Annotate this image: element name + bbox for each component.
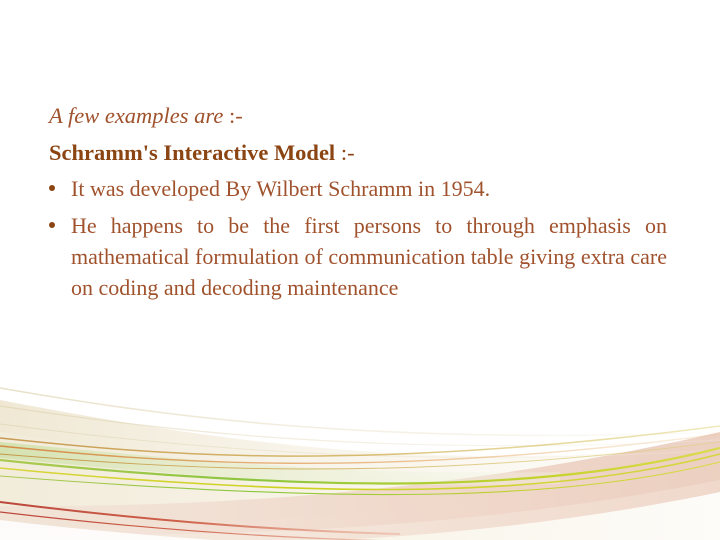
list-item: He happens to be the first persons to th… (49, 210, 667, 303)
ribbon-line-faint-3 (0, 424, 720, 457)
list-item-text: It was developed By Wilbert Schramm in 1… (71, 173, 667, 204)
ribbon-line-orange (0, 434, 720, 463)
ribbon-line-olive (0, 426, 720, 456)
ribbon-green-band (0, 442, 560, 485)
section-heading: Schramm's Interactive Model :- (49, 138, 667, 168)
ribbon-line-green-2 (0, 462, 720, 495)
ribbon-line-faint-2 (0, 406, 720, 446)
ribbon-line-red (0, 502, 400, 534)
list-item: It was developed By Wilbert Schramm in 1… (49, 173, 667, 204)
ribbon-cream-wash-2 (0, 432, 720, 540)
ribbon-line-green-main (0, 448, 720, 483)
list-item-text: He happens to be the first persons to th… (71, 210, 667, 303)
ribbon-pink-band-2 (0, 452, 720, 540)
ribbon-swoosh-footer (0, 380, 720, 540)
ribbon-line-olive-2 (0, 442, 720, 469)
lead-line-emphasis: A few examples are (49, 103, 223, 128)
slide-text-body: A few examples are :- Schramm's Interact… (49, 101, 667, 309)
slide-canvas: A few examples are :- Schramm's Interact… (0, 0, 720, 540)
ribbon-pink-band (0, 432, 720, 535)
lead-line: A few examples are :- (49, 101, 667, 131)
ribbon-line-yellow (0, 454, 720, 489)
bullet-list: It was developed By Wilbert Schramm in 1… (49, 173, 667, 303)
lead-line-tail: :- (223, 103, 242, 128)
bullet-dot-icon (49, 222, 55, 228)
ribbon-line-faint-1 (0, 388, 720, 435)
bullet-dot-icon (49, 185, 55, 191)
section-heading-strong: Schramm's Interactive Model (49, 140, 335, 165)
ribbon-cream-wash (0, 400, 720, 540)
ribbon-line-red-2 (0, 512, 400, 540)
section-heading-tail: :- (335, 140, 354, 165)
ribbon-white-sliver (0, 520, 360, 540)
